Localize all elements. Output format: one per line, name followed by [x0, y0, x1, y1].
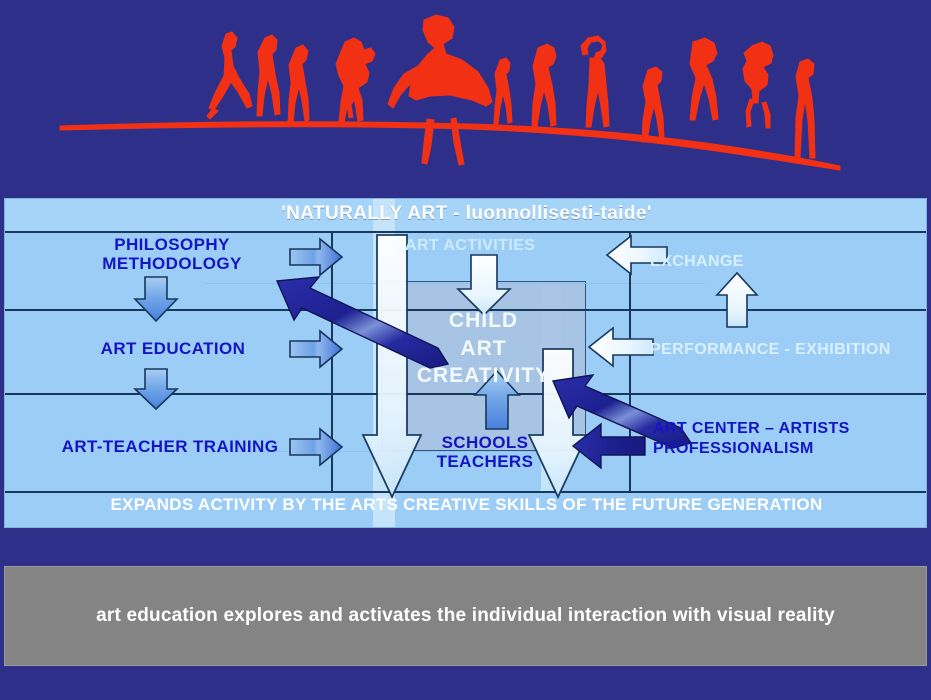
- arrow-philosophy-down: [135, 277, 177, 321]
- arrow-philosophy-to-center: [290, 239, 342, 275]
- label-child-art-creativity: CHILD ART CREATIVITY: [381, 307, 586, 390]
- label-performance-exhibition: PERFORMANCE - EXHIBITION: [650, 341, 891, 359]
- vrule-right: [629, 231, 631, 491]
- arrow-arteducation-down: [135, 369, 177, 409]
- artwork-panel: [0, 0, 931, 196]
- arrow-performance-left: [589, 328, 653, 366]
- label-footer-band: EXPANDS ACTIVITY BY THE ARTS CREATIVE SK…: [5, 495, 927, 514]
- rule-3: [5, 393, 927, 395]
- core-line-2: ART: [381, 335, 586, 363]
- schools-line-2: TEACHERS: [425, 452, 545, 471]
- children-silhouettes-artwork: [0, 0, 931, 196]
- caption-text: art education explores and activates the…: [96, 605, 835, 627]
- label-art-center-artists: ART CENTER – ARTISTS PROFESSIONALISM: [653, 419, 850, 459]
- label-art-activities: ART ACTIVITIES: [405, 237, 535, 255]
- caption-bar: art education explores and activates the…: [4, 566, 927, 666]
- arrow-performance-up: [717, 273, 757, 327]
- label-philosophy-methodology: PHILOSOPHY METHODOLOGY: [77, 235, 267, 273]
- artcenter-line-1: ART CENTER – ARTISTS: [653, 419, 850, 439]
- slide-root: 'NATURALLY ART - luonnollisesti-taide' P…: [0, 0, 931, 700]
- artcenter-line-2: PROFESSIONALISM: [653, 439, 850, 459]
- label-art-teacher-training: ART-TEACHER TRAINING: [25, 437, 315, 456]
- rule-4: [5, 491, 927, 493]
- philosophy-line-1: PHILOSOPHY: [77, 235, 267, 254]
- core-line-3: CREATIVITY: [381, 362, 586, 390]
- rule-1: [5, 231, 927, 233]
- diagram-title: 'NATURALLY ART - luonnollisesti-taide': [5, 203, 927, 224]
- core-line-1: CHILD: [381, 307, 586, 335]
- label-art-education: ART EDUCATION: [33, 339, 313, 358]
- philosophy-line-2: METHODOLOGY: [77, 254, 267, 273]
- label-exchange: EXCHANGE: [650, 253, 744, 271]
- strategy-diagram: 'NATURALLY ART - luonnollisesti-taide' P…: [4, 198, 927, 528]
- label-schools-teachers: SCHOOLS TEACHERS: [425, 433, 545, 471]
- vrule-left: [331, 231, 333, 491]
- schools-line-1: SCHOOLS: [425, 433, 545, 452]
